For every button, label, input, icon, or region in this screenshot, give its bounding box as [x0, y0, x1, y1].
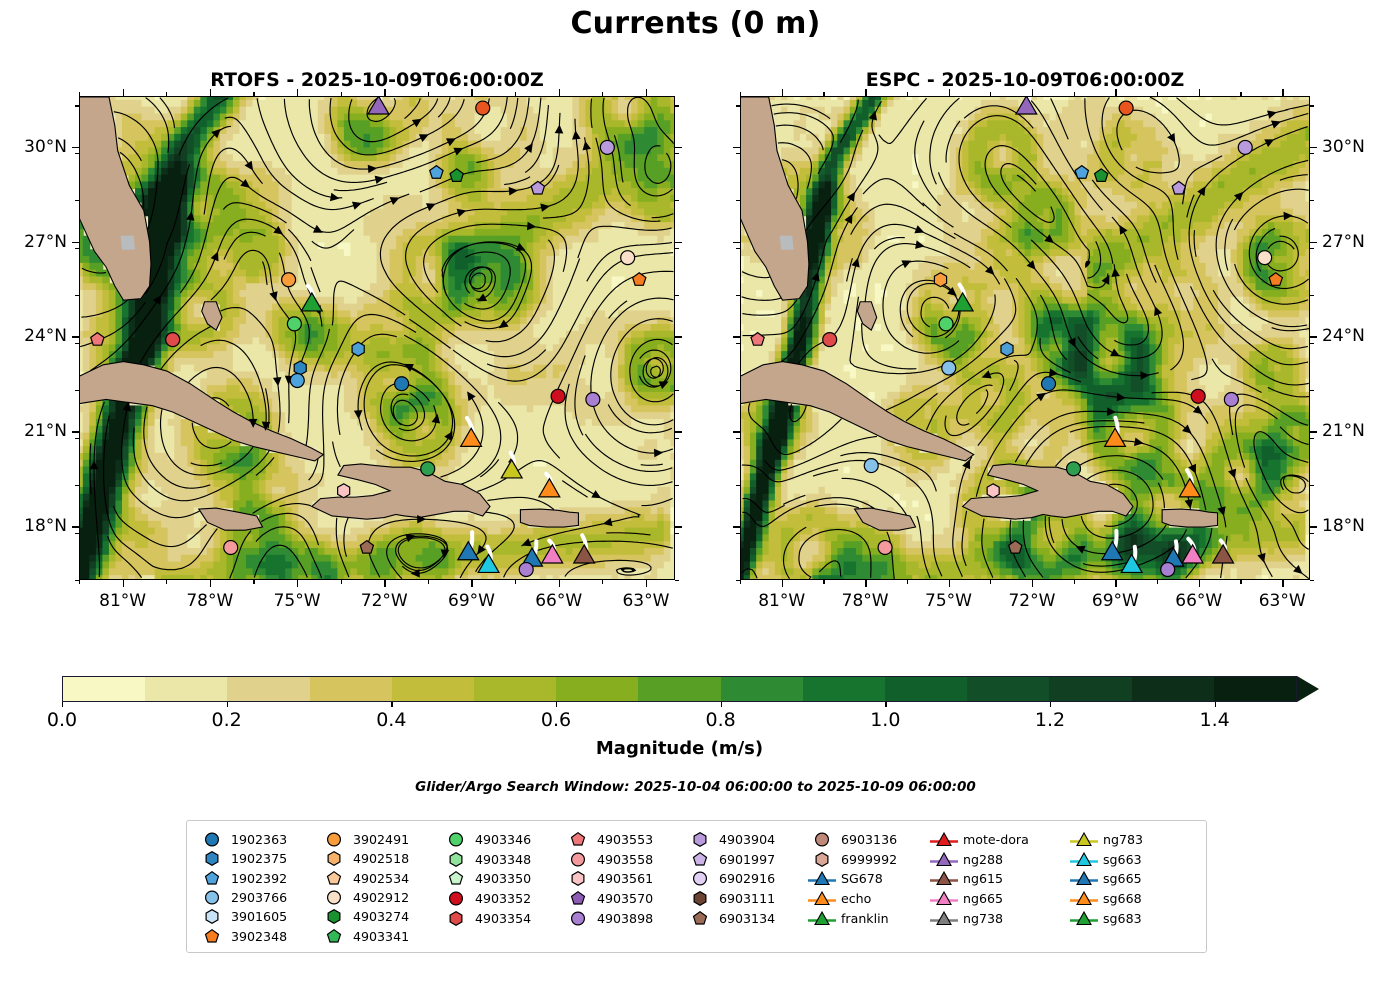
marker-2903766[interactable]: [942, 361, 956, 375]
marker-4903898b[interactable]: [1224, 392, 1238, 406]
y-minor-right: [1310, 533, 1314, 534]
legend-item[interactable]: 4903553: [563, 830, 685, 850]
y-minor-left: [736, 390, 740, 391]
legend-item[interactable]: ng288: [929, 850, 1069, 870]
legend-item[interactable]: 3902348: [197, 927, 319, 946]
legend-item[interactable]: 3901605: [197, 907, 319, 926]
legend-marker-hexagon-icon: [807, 850, 837, 869]
legend-label: 4903898: [593, 911, 653, 926]
marker-1902363[interactable]: [1042, 377, 1056, 391]
legend-marker-circle-icon: [563, 909, 593, 928]
legend-label: sg683: [1099, 911, 1142, 926]
legend-label: 2903766: [227, 890, 287, 905]
legend-marker-pentagon-icon: [197, 927, 227, 946]
legend-label: ng783: [1099, 832, 1143, 847]
y-minor-right: [1310, 390, 1314, 391]
legend-marker-circle-icon: [807, 830, 837, 849]
marker-4903561[interactable]: [987, 484, 999, 498]
legend-label: ng288: [959, 852, 1003, 867]
colorbar-swatch: [803, 677, 885, 701]
y-minor-right: [1310, 200, 1314, 201]
y-minor-right: [675, 580, 679, 581]
legend-marker-circle-icon: [441, 830, 471, 849]
legend-marker-hexagon-icon: [441, 909, 471, 928]
marker-3902491[interactable]: [282, 273, 296, 287]
legend-marker-triangle-icon: [929, 850, 959, 869]
colorbar-tick: [1050, 702, 1051, 707]
y-tick-label: 24°N: [0, 326, 67, 346]
y-tick: [72, 147, 79, 148]
y-tick-label-right: 27°N: [1322, 232, 1365, 252]
legend-item[interactable]: 4903348: [441, 850, 563, 870]
y-minor-left: [75, 200, 79, 201]
x-tick-label: 72°W: [1008, 591, 1055, 611]
legend-item[interactable]: sg683: [1069, 908, 1169, 928]
legend-item[interactable]: 6999992: [807, 850, 929, 870]
y-minor-right: [675, 343, 679, 344]
x-minor-bottom: [253, 580, 254, 584]
marker-3902491[interactable]: [934, 273, 946, 287]
marker-4903352[interactable]: [476, 101, 490, 115]
x-minor-top: [602, 92, 603, 96]
x-minor-bottom: [740, 580, 741, 584]
y-minor-right: [1310, 580, 1314, 581]
x-minor-top: [740, 92, 741, 96]
x-minor-top: [1240, 92, 1241, 96]
legend-item[interactable]: 4902534: [319, 869, 441, 888]
legend-marker-triangle-icon: [1069, 909, 1099, 928]
legend-marker-triangle-icon: [929, 869, 959, 888]
marker-4903346b[interactable]: [1067, 462, 1081, 476]
y-minor-left: [75, 153, 79, 154]
legend-item[interactable]: 4903561: [563, 869, 685, 889]
legend: 1902363190237519023922903766390160539023…: [186, 820, 1207, 953]
x-tick-top: [210, 89, 211, 96]
land-puertorico: [1162, 509, 1217, 527]
legend-label: 4903904: [715, 832, 775, 847]
x-minor-top: [907, 92, 908, 96]
legend-label: 4903570: [593, 891, 653, 906]
legend-item[interactable]: 4903346: [441, 830, 563, 850]
legend-marker-circle-icon: [441, 889, 471, 908]
legend-label: 1902375: [227, 851, 287, 866]
legend-label: 3902348: [227, 929, 287, 944]
legend-label: sg668: [1099, 891, 1142, 906]
legend-marker-pentagon-icon: [319, 869, 349, 888]
y-minor-right: [1310, 485, 1314, 486]
legend-item[interactable]: 6903111: [685, 889, 807, 909]
x-tick-label: 75°W: [274, 591, 321, 611]
legend-marker-hexagon-icon: [685, 830, 715, 849]
x-minor-top: [1074, 92, 1075, 96]
colorbar: Magnitude (m/s) 0.00.20.40.60.81.01.21.4: [62, 676, 1329, 702]
legend-item[interactable]: 4903274: [319, 907, 441, 926]
y-minor-right: [675, 485, 679, 486]
y-tick: [72, 336, 79, 337]
x-tick: [1115, 580, 1116, 587]
legend-item[interactable]: 4902912: [319, 888, 441, 907]
colorbar-swatch: [1049, 677, 1131, 701]
x-minor-bottom: [428, 580, 429, 584]
legend-item[interactable]: franklin: [807, 908, 929, 928]
legend-marker-triangle-icon: [807, 909, 837, 928]
legend-marker-hexagon-icon: [441, 850, 471, 869]
x-tick-top: [384, 89, 385, 96]
legend-label: 4903274: [349, 909, 409, 924]
y-minor-left: [736, 105, 740, 106]
marker-4903898[interactable]: [1238, 140, 1252, 154]
legend-item[interactable]: ng615: [929, 869, 1069, 889]
y-minor-left: [736, 248, 740, 249]
legend-label: 4903553: [593, 832, 653, 847]
colorbar-swatch: [63, 677, 145, 701]
y-tick-right: [675, 526, 682, 527]
y-tick-label-right: 24°N: [1322, 326, 1365, 346]
x-minor-bottom: [79, 580, 80, 584]
legend-item[interactable]: 6903134: [685, 908, 807, 928]
legend-label: 4903346: [471, 832, 531, 847]
legend-item[interactable]: 6902916: [685, 869, 807, 889]
x-minor-bottom: [990, 580, 991, 584]
legend-label: 4902912: [349, 890, 409, 905]
legend-item[interactable]: mote-dora: [929, 830, 1069, 850]
legend-label: 4903558: [593, 852, 653, 867]
legend-item[interactable]: echo: [807, 889, 929, 909]
legend-label: echo: [837, 891, 871, 906]
x-minor-bottom: [907, 580, 908, 584]
marker-1902363b[interactable]: [864, 459, 878, 473]
legend-marker-circle-icon: [197, 888, 227, 907]
legend-label: 3901605: [227, 909, 287, 924]
y-tick: [733, 242, 740, 243]
y-tick-right: [675, 431, 682, 432]
marker-4903904b[interactable]: [1161, 563, 1175, 577]
legend-item[interactable]: 3902491: [319, 830, 441, 849]
colorbar-swatch: [1132, 677, 1214, 701]
colorbar-tick: [556, 702, 557, 707]
legend-item[interactable]: 1902375: [197, 849, 319, 868]
marker-4903352b[interactable]: [1191, 389, 1205, 403]
x-tick-top: [123, 89, 124, 96]
legend-marker-triangle-icon: [1069, 850, 1099, 869]
y-minor-right: [675, 533, 679, 534]
legend-item[interactable]: 6903136: [807, 830, 929, 850]
y-minor-right: [1310, 343, 1314, 344]
legend-marker-hexagon-icon: [197, 907, 227, 926]
y-minor-left: [736, 580, 740, 581]
x-tick-top: [865, 89, 866, 96]
marker-4903898b[interactable]: [586, 392, 600, 406]
x-tick-top: [471, 89, 472, 96]
legend-label: 4903341: [349, 929, 409, 944]
y-tick-label: 30°N: [0, 137, 67, 157]
legend-marker-circle-icon: [319, 888, 349, 907]
legend-marker-pentagon-icon: [441, 869, 471, 888]
legend-marker-triangle-icon: [1069, 830, 1099, 849]
y-tick-right: [1310, 336, 1317, 337]
marker-4903898[interactable]: [600, 140, 614, 154]
legend-item[interactable]: 4903350: [441, 869, 563, 889]
x-tick: [782, 580, 783, 587]
x-tick: [210, 580, 211, 587]
legend-label: 6903134: [715, 911, 775, 926]
marker-4903346[interactable]: [287, 317, 301, 331]
colorbar-tick: [62, 702, 63, 707]
marker-4903346[interactable]: [939, 317, 953, 331]
legend-label: 3902491: [349, 832, 409, 847]
colorbar-swatch: [392, 677, 474, 701]
y-tick-right: [675, 336, 682, 337]
marker-4903561[interactable]: [338, 484, 350, 498]
y-tick: [72, 242, 79, 243]
y-tick: [72, 431, 79, 432]
legend-marker-pentagon-icon: [319, 927, 349, 946]
x-minor-top: [79, 92, 80, 96]
legend-item[interactable]: SG678: [807, 869, 929, 889]
colorbar-tick: [721, 702, 722, 707]
y-minor-right: [675, 295, 679, 296]
y-tick-label-right: 30°N: [1322, 137, 1365, 157]
colorbar-tick-label: 0.2: [212, 709, 242, 731]
legend-label: 6903111: [715, 891, 775, 906]
y-minor-left: [75, 248, 79, 249]
colorbar-swatch: [310, 677, 392, 701]
x-tick: [1032, 580, 1033, 587]
panel-espc-title: ESPC - 2025-10-09T06:00:00Z: [740, 69, 1310, 91]
marker-4903558[interactable]: [224, 541, 238, 555]
y-tick-right: [1310, 526, 1317, 527]
legend-column: 3902491490251849025344902912490327449033…: [319, 830, 441, 946]
x-tick-top: [1032, 89, 1033, 96]
legend-marker-circle-icon: [319, 830, 349, 849]
colorbar-swatch: [885, 677, 967, 701]
legend-marker-hexagon-icon: [319, 849, 349, 868]
y-minor-left: [75, 580, 79, 581]
x-tick-label: 63°W: [622, 591, 669, 611]
x-tick-top: [559, 89, 560, 96]
search-window-text: Glider/Argo Search Window: 2025-10-04 06…: [0, 779, 1391, 795]
colorbar-swatch: [145, 677, 227, 701]
y-tick-right: [675, 147, 682, 148]
x-tick-top: [1199, 89, 1200, 96]
y-minor-right: [675, 390, 679, 391]
marker-4903354[interactable]: [823, 333, 837, 347]
y-tick-label-right: 21°N: [1322, 421, 1365, 441]
colorbar-tick-label: 1.4: [1200, 709, 1230, 731]
colorbar-swatch: [967, 677, 1049, 701]
y-minor-left: [736, 343, 740, 344]
y-minor-left: [75, 485, 79, 486]
marker-1902375[interactable]: [294, 361, 306, 375]
y-minor-right: [1310, 105, 1314, 106]
legend-marker-triangle-icon: [929, 909, 959, 928]
x-tick-label: 66°W: [1175, 591, 1222, 611]
legend-label: ng615: [959, 871, 1003, 886]
colorbar-swatch: [556, 677, 638, 701]
colorbar-swatch: [474, 677, 556, 701]
legend-item[interactable]: 4903898: [563, 908, 685, 928]
colorbar-swatch: [1214, 677, 1296, 701]
colorbar-tick-label: 0.4: [376, 709, 406, 731]
y-minor-left: [75, 438, 79, 439]
legend-item[interactable]: 1902392: [197, 869, 319, 888]
x-tick-top: [1115, 89, 1116, 96]
legend-label: 6901997: [715, 852, 775, 867]
legend-marker-triangle-icon: [807, 869, 837, 888]
y-tick: [733, 336, 740, 337]
x-minor-bottom: [515, 580, 516, 584]
legend-label: franklin: [837, 911, 889, 926]
y-tick-label: 18°N: [0, 516, 67, 536]
colorbar-swatch: [227, 677, 309, 701]
legend-label: 4903348: [471, 852, 531, 867]
legend-item[interactable]: 2903766: [197, 888, 319, 907]
x-tick-top: [782, 89, 783, 96]
land-puertorico: [520, 509, 578, 527]
legend-marker-pentagon-icon: [685, 909, 715, 928]
legend-column: ng783sg663sg665sg668sg683: [1069, 830, 1169, 946]
lake-okeechobee: [780, 236, 794, 250]
marker-4903348[interactable]: [352, 342, 364, 356]
legend-label: 4902518: [349, 851, 409, 866]
map-espc[interactable]: [740, 96, 1310, 580]
legend-label: 4902534: [349, 871, 409, 886]
legend-item[interactable]: sg665: [1069, 869, 1169, 889]
x-tick-label: 78°W: [842, 591, 889, 611]
x-tick-label: 78°W: [186, 591, 233, 611]
legend-label: 4903561: [593, 871, 653, 886]
legend-marker-hexagon-icon: [197, 849, 227, 868]
colorbar-tick-label: 0.6: [541, 709, 571, 731]
map-rtofs[interactable]: [79, 96, 675, 580]
legend-label: mote-dora: [959, 832, 1029, 847]
legend-marker-hexagon-icon: [563, 869, 593, 888]
legend-label: 4903352: [471, 891, 531, 906]
x-tick: [471, 580, 472, 587]
figure-root: Currents (0 m) RTOFS - 2025-10-09T06:00:…: [0, 0, 1391, 986]
marker-4903904b[interactable]: [519, 563, 533, 577]
y-tick-right: [1310, 147, 1317, 148]
y-minor-right: [1310, 153, 1314, 154]
legend-item[interactable]: 6901997: [685, 850, 807, 870]
legend-marker-triangle-icon: [1069, 889, 1099, 908]
legend-item[interactable]: 4903352: [441, 889, 563, 909]
colorbar-tick-label: 0.0: [47, 709, 77, 731]
marker-4902912[interactable]: [1258, 251, 1272, 265]
colorbar-swatch: [721, 677, 803, 701]
marker-4903558[interactable]: [878, 541, 892, 555]
y-minor-right: [675, 438, 679, 439]
legend-item[interactable]: ng665: [929, 889, 1069, 909]
y-minor-left: [75, 533, 79, 534]
legend-column: 49033464903348490335049033524903354: [441, 830, 563, 946]
colorbar-tick-label: 1.0: [870, 709, 900, 731]
y-minor-right: [1310, 438, 1314, 439]
y-tick-right: [1310, 242, 1317, 243]
y-minor-left: [736, 533, 740, 534]
y-minor-right: [1310, 295, 1314, 296]
marker-4902912[interactable]: [621, 251, 635, 265]
legend-item[interactable]: 4903354: [441, 908, 563, 928]
marker-4903352[interactable]: [1119, 101, 1133, 115]
legend-marker-circle-icon: [197, 830, 227, 849]
y-minor-left: [736, 200, 740, 201]
legend-item[interactable]: sg668: [1069, 889, 1169, 909]
legend-column: mote-dorang288ng615ng665ng738: [929, 830, 1069, 946]
legend-label: 4903350: [471, 871, 531, 886]
y-minor-left: [75, 390, 79, 391]
y-minor-left: [736, 295, 740, 296]
x-tick: [559, 580, 560, 587]
x-tick-label: 69°W: [1092, 591, 1139, 611]
x-minor-bottom: [1074, 580, 1075, 584]
colorbar-tick: [1215, 702, 1216, 707]
x-tick: [949, 580, 950, 587]
x-minor-top: [1157, 92, 1158, 96]
legend-label: 1902363: [227, 832, 287, 847]
legend-item[interactable]: 4903341: [319, 927, 441, 946]
y-minor-right: [675, 200, 679, 201]
legend-item[interactable]: sg663: [1069, 850, 1169, 870]
marker-2903766[interactable]: [290, 374, 304, 388]
legend-label: SG678: [837, 871, 883, 886]
y-tick-right: [1310, 431, 1317, 432]
y-minor-left: [75, 105, 79, 106]
y-tick-label: 21°N: [0, 421, 67, 441]
legend-item[interactable]: ng783: [1069, 830, 1169, 850]
legend-marker-triangle-icon: [807, 889, 837, 908]
x-minor-top: [166, 92, 167, 96]
x-tick-label: 69°W: [448, 591, 495, 611]
x-tick: [1282, 580, 1283, 587]
colorbar-tick-label: 0.8: [706, 709, 736, 731]
x-tick: [646, 580, 647, 587]
marker-4903348[interactable]: [1001, 342, 1013, 356]
legend-marker-pentagon-icon: [197, 869, 227, 888]
colorbar-tick-label: 1.2: [1035, 709, 1065, 731]
legend-label: 6902916: [715, 871, 775, 886]
legend-item[interactable]: 4903558: [563, 850, 685, 870]
legend-label: ng738: [959, 911, 1003, 926]
x-minor-top: [515, 92, 516, 96]
x-tick-label: 75°W: [925, 591, 972, 611]
legend-item[interactable]: 4903904: [685, 830, 807, 850]
legend-item[interactable]: 4902518: [319, 849, 441, 868]
legend-label: ng665: [959, 891, 1003, 906]
marker-1902363[interactable]: [395, 377, 409, 391]
y-tick-right: [675, 242, 682, 243]
legend-label: 4903354: [471, 911, 531, 926]
marker-4903346b[interactable]: [421, 462, 435, 476]
x-tick-top: [1282, 89, 1283, 96]
x-minor-bottom: [602, 580, 603, 584]
colorbar-tick: [227, 702, 228, 707]
panel-rtofs: RTOFS - 2025-10-09T06:00:00Z 81°W78°W75°…: [79, 96, 675, 580]
legend-item[interactable]: ng738: [929, 908, 1069, 928]
x-tick: [297, 580, 298, 587]
x-tick-label: 81°W: [99, 591, 146, 611]
y-tick: [733, 526, 740, 527]
legend-label: 6999992: [837, 852, 897, 867]
x-tick-top: [646, 89, 647, 96]
legend-label: 6903136: [837, 832, 897, 847]
legend-item[interactable]: 4903570: [563, 889, 685, 909]
legend-item[interactable]: 1902363: [197, 830, 319, 849]
legend-label: 1902392: [227, 871, 287, 886]
x-tick: [865, 580, 866, 587]
marker-4903352b[interactable]: [551, 389, 565, 403]
marker-4903354[interactable]: [166, 333, 180, 347]
